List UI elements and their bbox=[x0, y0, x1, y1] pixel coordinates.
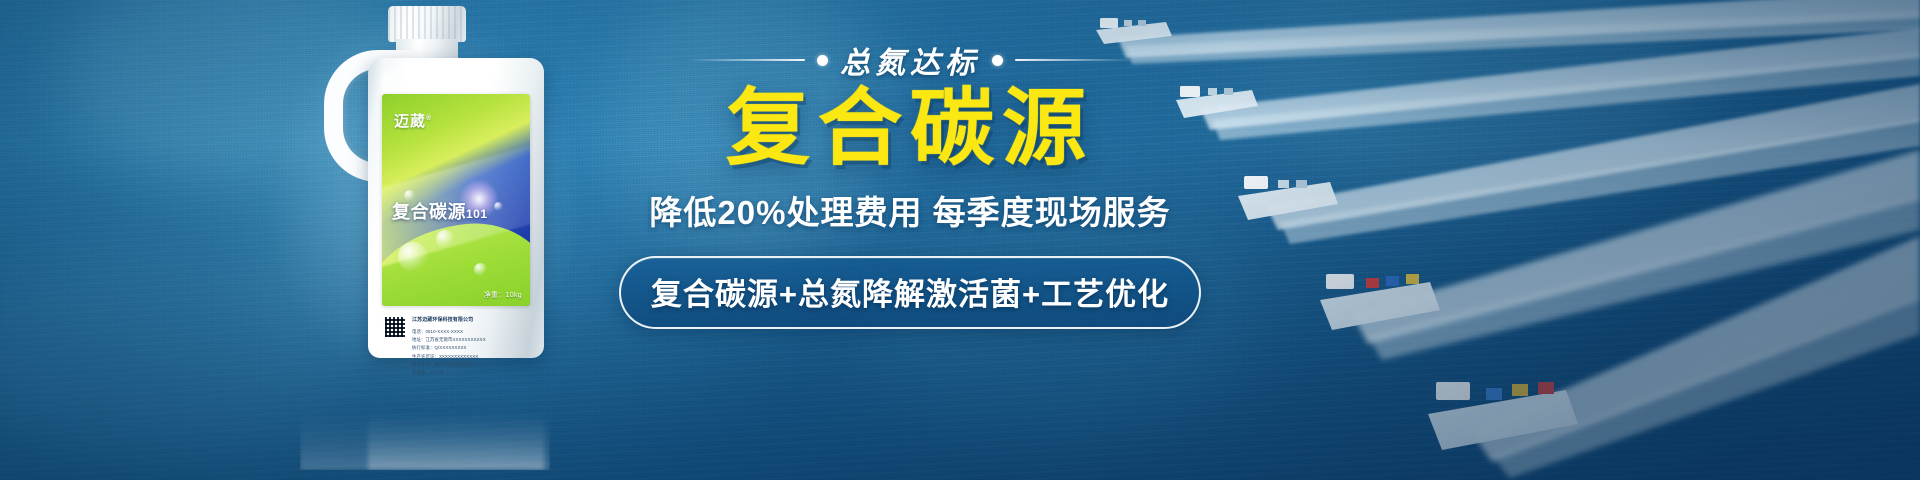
banner-copy: 总氮达标 复合碳源 降低20%处理费用 每季度现场服务 复合碳源+总氮降解激活菌… bbox=[600, 40, 1220, 400]
promo-banner: 迈葳® 复合碳源101 净重：10kg 江苏迈葳环保科技有限公司 电话：0510… bbox=[0, 0, 1920, 480]
bullet-dot-icon bbox=[817, 55, 828, 66]
feature-pill: 复合碳源+总氮降解激活菌+工艺优化 bbox=[619, 256, 1201, 329]
product-name-text: 复合碳源 bbox=[392, 202, 466, 222]
sub-headline: 降低20%处理费用 每季度现场服务 bbox=[600, 186, 1220, 234]
product-bottle: 迈葳® 复合碳源101 净重：10kg 江苏迈葳环保科技有限公司 电话：0510… bbox=[300, 6, 550, 406]
page-title: 复合碳源 bbox=[600, 86, 1220, 172]
registered-trademark-icon: ® bbox=[426, 115, 432, 122]
net-weight: 净重：10kg bbox=[484, 290, 522, 300]
spec-line: 电话：0510-XXXX-XXXX bbox=[412, 328, 528, 336]
eyebrow-text: 总氮达标 bbox=[840, 38, 980, 82]
product-label: 迈葳® 复合碳源101 净重：10kg bbox=[382, 94, 530, 306]
spec-line: 保质期：12个月 bbox=[412, 369, 528, 377]
spec-line: 执行标准：Q/XXXXXXXXX bbox=[412, 344, 528, 352]
qr-code-icon bbox=[384, 316, 406, 338]
spec-line: 储存条件：阴凉干燥处密封保存 bbox=[412, 361, 528, 369]
label-bubble bbox=[436, 230, 454, 248]
spec-company: 江苏迈葳环保科技有限公司 bbox=[412, 316, 528, 326]
eyebrow-row: 总氮达标 bbox=[600, 40, 1220, 80]
brand-name: 迈葳® bbox=[394, 110, 432, 131]
bottle-reflection bbox=[300, 392, 550, 470]
spec-line: 地址：江苏省无锡市XXXXXXXXXXX bbox=[412, 336, 528, 344]
bottle-reflection-body bbox=[368, 410, 544, 470]
eyebrow-rule-right bbox=[1015, 59, 1133, 61]
brand-text: 迈葳 bbox=[394, 113, 426, 130]
product-spec-block: 江苏迈葳环保科技有限公司 电话：0510-XXXX-XXXX 地址：江苏省无锡市… bbox=[412, 316, 528, 390]
bottle-body: 迈葳® 复合碳源101 净重：10kg 江苏迈葳环保科技有限公司 电话：0510… bbox=[368, 58, 544, 358]
spec-line: 生产许可证：XXXXXXXXXXXXX bbox=[412, 353, 528, 361]
bullet-dot-icon bbox=[992, 55, 1003, 66]
label-bubble bbox=[398, 242, 428, 272]
eyebrow-rule-left bbox=[687, 59, 805, 61]
product-name: 复合碳源101 bbox=[392, 198, 522, 224]
bottle-cap bbox=[388, 6, 466, 42]
pill-row: 复合碳源+总氮降解激活菌+工艺优化 bbox=[600, 256, 1220, 329]
product-name-number: 101 bbox=[466, 207, 488, 221]
label-bubble bbox=[474, 263, 487, 276]
